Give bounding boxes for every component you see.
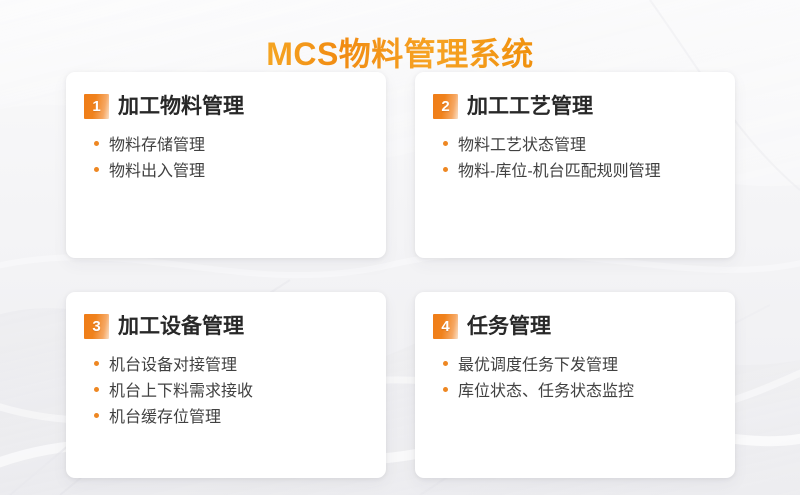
list-item-label: 物料出入管理	[109, 164, 205, 180]
card-bullet-list: 物料工艺状态管理 物料-库位-机台匹配规则管理	[433, 133, 715, 185]
card-number-badge: 3	[84, 314, 109, 339]
bullet-dot-icon	[94, 167, 99, 172]
card-bullet-list: 机台设备对接管理 机台上下料需求接收 机台缓存位管理	[84, 353, 366, 431]
list-item: 物料工艺状态管理	[443, 133, 715, 159]
list-item-label: 机台缓存位管理	[109, 410, 221, 426]
card-bullet-list: 物料存储管理 物料出入管理	[84, 133, 366, 185]
card-header: 2 加工工艺管理	[433, 94, 715, 119]
feature-card-2[interactable]: 2 加工工艺管理 物料工艺状态管理 物料-库位-机台匹配规则管理	[415, 72, 735, 258]
card-bullet-list: 最优调度任务下发管理 库位状态、任务状态监控	[433, 353, 715, 405]
list-item-label: 物料存储管理	[109, 138, 205, 154]
card-title: 任务管理	[467, 315, 551, 338]
feature-card-4[interactable]: 4 任务管理 最优调度任务下发管理 库位状态、任务状态监控	[415, 292, 735, 478]
list-item: 物料存储管理	[94, 133, 366, 159]
feature-card-grid: 1 加工物料管理 物料存储管理 物料出入管理 2 加工工艺管理 物料工艺状态管理…	[66, 72, 735, 478]
bullet-dot-icon	[94, 387, 99, 392]
card-header: 3 加工设备管理	[84, 314, 366, 339]
list-item: 物料-库位-机台匹配规则管理	[443, 159, 715, 185]
feature-card-1[interactable]: 1 加工物料管理 物料存储管理 物料出入管理	[66, 72, 386, 258]
bullet-dot-icon	[94, 413, 99, 418]
slide-page: MCS物料管理系统 1 加工物料管理 物料存储管理 物料出入管理 2 加工工艺管…	[0, 0, 800, 495]
list-item-label: 机台设备对接管理	[109, 358, 237, 374]
bullet-dot-icon	[94, 361, 99, 366]
list-item: 机台缓存位管理	[94, 405, 366, 431]
card-number-badge: 1	[84, 94, 109, 119]
card-title: 加工设备管理	[118, 315, 244, 338]
card-number-badge: 4	[433, 314, 458, 339]
bullet-dot-icon	[443, 167, 448, 172]
card-title: 加工物料管理	[118, 95, 244, 118]
card-number-badge: 2	[433, 94, 458, 119]
card-header: 1 加工物料管理	[84, 94, 366, 119]
list-item: 机台设备对接管理	[94, 353, 366, 379]
list-item: 机台上下料需求接收	[94, 379, 366, 405]
list-item: 库位状态、任务状态监控	[443, 379, 715, 405]
list-item-label: 机台上下料需求接收	[109, 384, 253, 400]
list-item-label: 库位状态、任务状态监控	[458, 384, 634, 400]
card-header: 4 任务管理	[433, 314, 715, 339]
list-item: 物料出入管理	[94, 159, 366, 185]
bullet-dot-icon	[443, 387, 448, 392]
list-item-label: 最优调度任务下发管理	[458, 358, 618, 374]
list-item-label: 物料工艺状态管理	[458, 138, 586, 154]
page-title: MCS物料管理系统	[266, 29, 534, 75]
list-item-label: 物料-库位-机台匹配规则管理	[458, 164, 661, 180]
card-title: 加工工艺管理	[467, 95, 593, 118]
bullet-dot-icon	[94, 141, 99, 146]
bullet-dot-icon	[443, 141, 448, 146]
list-item: 最优调度任务下发管理	[443, 353, 715, 379]
bullet-dot-icon	[443, 361, 448, 366]
feature-card-3[interactable]: 3 加工设备管理 机台设备对接管理 机台上下料需求接收 机台缓存位管理	[66, 292, 386, 478]
